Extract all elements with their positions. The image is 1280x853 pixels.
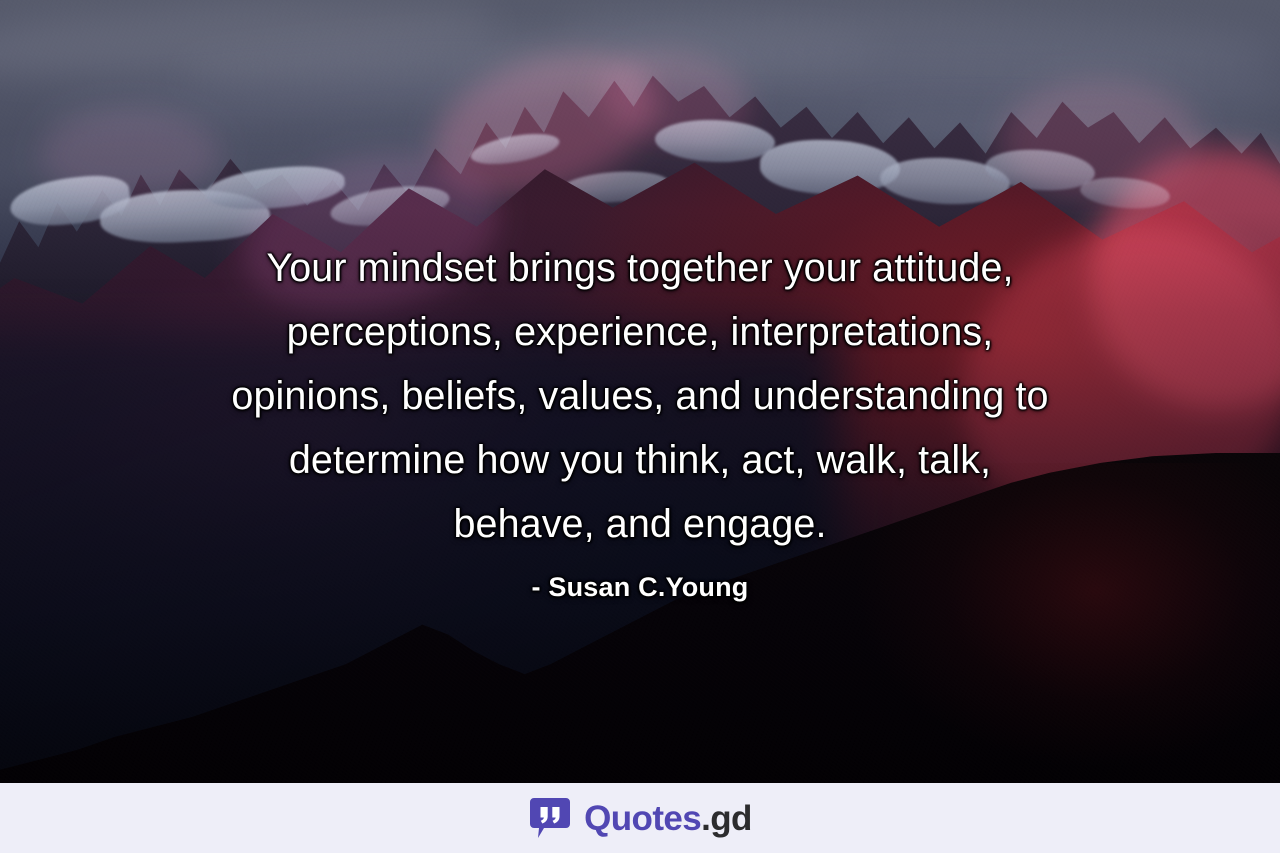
quote-text: Your mindset brings together your attitu…: [96, 236, 1184, 556]
brand-word: Quotes: [584, 799, 701, 838]
quote-line: Your mindset brings together your attitu…: [266, 246, 1013, 290]
brand-wordmark: Quotes.gd: [584, 801, 752, 836]
quote-line: determine how you think, act, walk, talk…: [289, 438, 991, 482]
alpenglow-highlight: [40, 110, 220, 200]
quote-block: Your mindset brings together your attitu…: [0, 236, 1280, 603]
quote-card-page: Your mindset brings together your attitu…: [0, 0, 1280, 853]
quote-line: opinions, beliefs, values, and understan…: [231, 374, 1048, 418]
brand-tld: .gd: [701, 799, 752, 838]
quote-line: behave, and engage.: [453, 502, 826, 546]
quote-bubble-icon: [528, 796, 572, 840]
quote-line: perceptions, experience, interpretations…: [287, 310, 994, 354]
quote-author: - Susan C.Young: [96, 572, 1184, 603]
footer-bar: Quotes.gd: [0, 783, 1280, 853]
brand-logo[interactable]: Quotes.gd: [528, 796, 752, 840]
